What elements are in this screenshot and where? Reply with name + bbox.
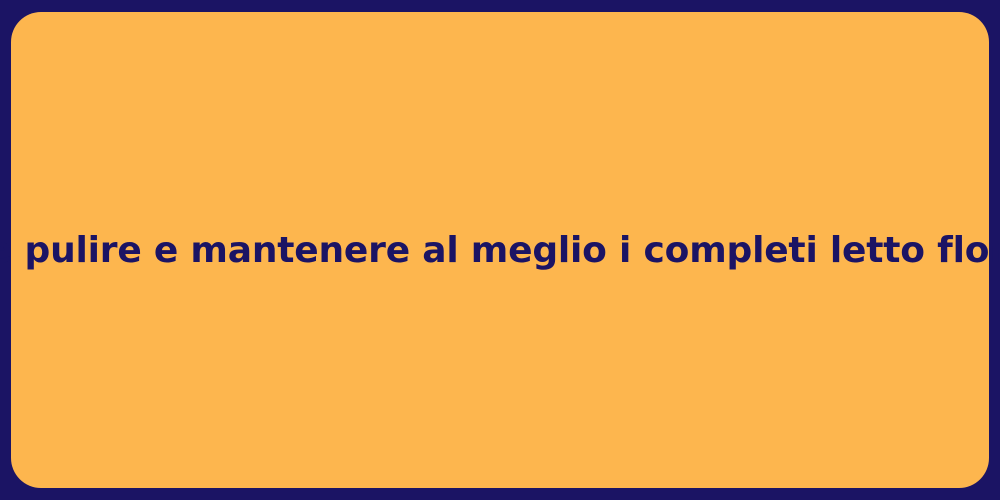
content-card: Come pulire e mantenere al meglio i comp… bbox=[11, 12, 989, 488]
screenshot-canvas: Come pulire e mantenere al meglio i comp… bbox=[0, 0, 1000, 500]
page-title: Come pulire e mantenere al meglio i comp… bbox=[0, 228, 1000, 273]
